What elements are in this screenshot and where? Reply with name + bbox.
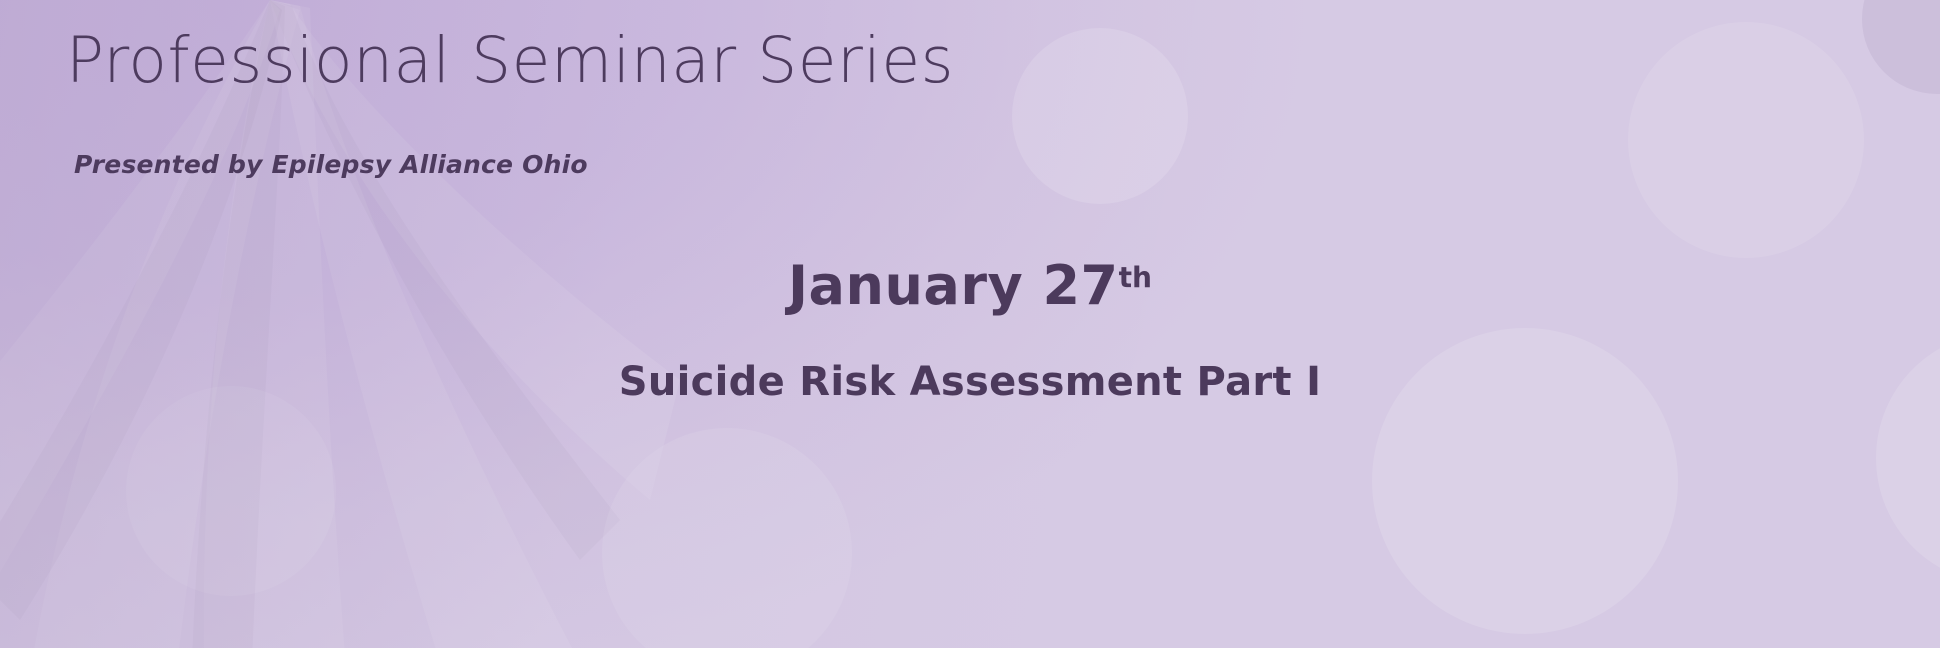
event-date: January 27th [0, 258, 1940, 315]
series-title: Professional Seminar Series [66, 26, 954, 95]
banner-content: Professional Seminar Series Presented by… [0, 0, 1940, 648]
session-title: Suicide Risk Assessment Part I [0, 360, 1940, 404]
presenter-credit: Presented by Epilepsy Alliance Ohio [74, 150, 588, 179]
event-date-text: January 27 [788, 254, 1119, 317]
event-date-ordinal: th [1119, 261, 1152, 294]
seminar-banner: Professional Seminar Series Presented by… [0, 0, 1940, 648]
